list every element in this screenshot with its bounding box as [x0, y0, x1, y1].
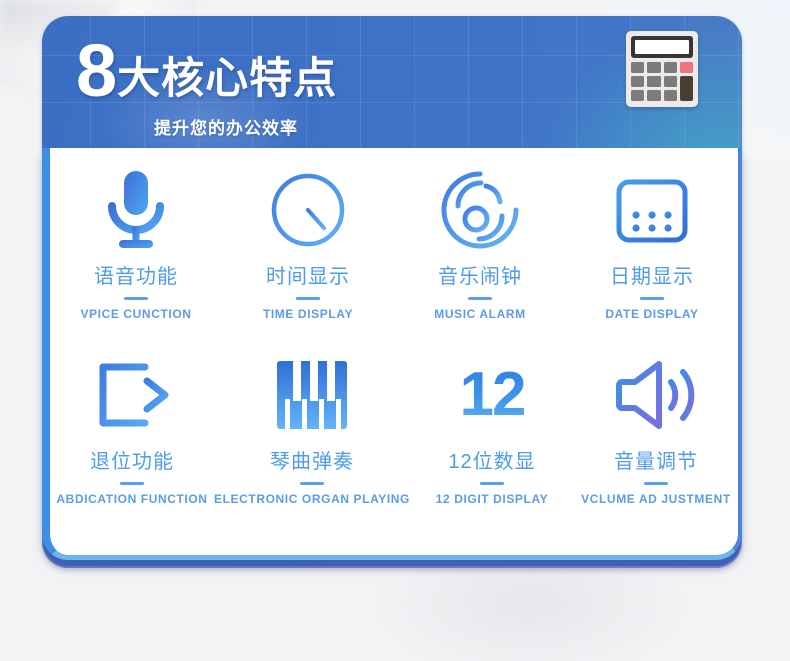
background-blob-bottom: [380, 555, 680, 661]
label-divider: [468, 297, 492, 300]
calculator-keypad: [631, 62, 693, 101]
banner-header: 8 大核心特点 提升您的办公效率: [76, 34, 712, 149]
label-divider: [300, 482, 324, 485]
label-divider: [480, 482, 504, 485]
title-number: 8: [76, 34, 115, 108]
feature-item-time[interactable]: 时间显示 TIME DISPLAY: [222, 162, 394, 321]
page-title: 8 大核心特点: [76, 34, 712, 105]
calculator-screen-frame: [631, 36, 693, 58]
feature-item-abdication[interactable]: 退位功能 ABDICATION FUNCTION: [50, 347, 214, 506]
speaker-volume-icon: [613, 347, 699, 443]
calculator-icon: [626, 31, 698, 107]
feature-item-voice[interactable]: 语音功能 VPICE CUNCTION: [50, 162, 222, 321]
exit-arrow-icon: [89, 347, 175, 443]
calculator-screen: [635, 40, 689, 54]
calculator-key: [664, 76, 677, 87]
feature-label-cn: 时间显示: [266, 260, 350, 289]
calculator-key: [647, 90, 660, 101]
calculator-key: [631, 76, 644, 87]
clock-icon: [266, 162, 350, 258]
label-divider: [644, 482, 668, 485]
feature-label-en: MUSIC ALARM: [434, 307, 525, 321]
feature-item-organ[interactable]: 琴曲弹奏 ELECTRONIC ORGAN PLAYING: [214, 347, 410, 506]
feature-item-12-digit[interactable]: 12 12位数显 12 DIGIT DISPLAY: [410, 347, 574, 506]
calculator-key: [664, 62, 677, 73]
calendar-icon: [609, 162, 695, 258]
feature-item-volume[interactable]: 音量调节 VCLUME AD JUSTMENT: [574, 347, 738, 506]
feature-item-music-alarm[interactable]: 音乐闹钟 MUSIC ALARM: [394, 162, 566, 321]
piano-keys-icon: [271, 347, 353, 443]
title-text: 大核心特点: [117, 58, 337, 101]
calculator-key: [631, 90, 644, 101]
feature-label-en: TIME DISPLAY: [263, 307, 353, 321]
page-subtitle: 提升您的办公效率: [154, 114, 712, 139]
music-note-disc-icon: [436, 162, 524, 258]
label-divider: [640, 297, 664, 300]
label-divider: [120, 482, 144, 485]
feature-label-en: VPICE CUNCTION: [80, 307, 191, 321]
label-divider: [296, 297, 320, 300]
feature-label-cn: 音量调节: [614, 445, 698, 474]
number-12-icon: 12: [460, 347, 525, 443]
features-row-2: 退位功能 ABDICATION FUNCTION: [50, 347, 738, 506]
feature-label-en: DATE DISPLAY: [605, 307, 698, 321]
feature-label-en: ABDICATION FUNCTION: [56, 492, 207, 506]
features-card: 语音功能 VPICE CUNCTION: [42, 148, 742, 560]
feature-label-cn: 退位功能: [90, 445, 174, 474]
feature-label-en: VCLUME AD JUSTMENT: [581, 492, 731, 506]
microphone-icon: [98, 162, 174, 258]
feature-label-cn: 音乐闹钟: [438, 260, 522, 289]
calculator-key: [647, 76, 660, 87]
feature-label-cn: 语音功能: [94, 260, 178, 289]
features-row-1: 语音功能 VPICE CUNCTION: [50, 162, 738, 321]
feature-label-cn: 12位数显: [448, 445, 535, 474]
features-grid: 语音功能 VPICE CUNCTION: [50, 162, 738, 506]
calculator-key: [631, 62, 644, 73]
feature-label-en: 12 DIGIT DISPLAY: [436, 492, 549, 506]
feature-label-cn: 琴曲弹奏: [270, 445, 354, 474]
calculator-key: [664, 90, 677, 101]
label-divider: [124, 297, 148, 300]
calculator-key-accent: [680, 62, 693, 73]
feature-label-cn: 日期显示: [610, 260, 694, 289]
feature-item-date[interactable]: 日期显示 DATE DISPLAY: [566, 162, 738, 321]
calculator-key: [647, 62, 660, 73]
calculator-key-equals: [680, 76, 693, 101]
number-12-text: 12: [460, 364, 525, 426]
feature-label-en: ELECTRONIC ORGAN PLAYING: [214, 492, 410, 506]
